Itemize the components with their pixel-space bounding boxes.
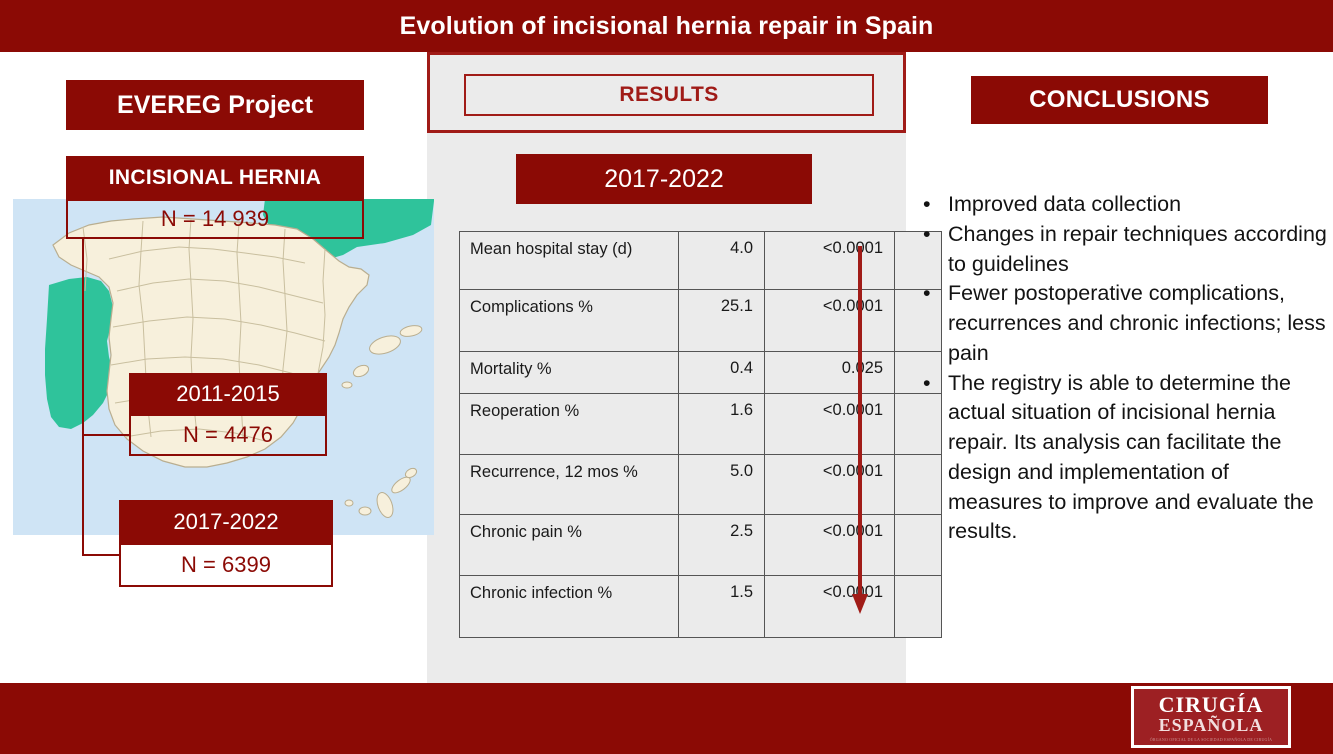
results-table-body: Mean hospital stay (d) 4.0 <0.0001 Compl… bbox=[460, 232, 942, 638]
list-item-text: Improved data collection bbox=[948, 192, 1181, 216]
period-2017-2022-banner: 2017-2022 bbox=[119, 500, 333, 544]
table-row: Reoperation % 1.6 <0.0001 bbox=[460, 394, 942, 455]
list-item: • Improved data collection bbox=[911, 190, 1329, 220]
table-cell-value: 25.1 bbox=[679, 290, 765, 352]
incisional-hernia-n-value: N = 14 939 bbox=[161, 206, 269, 232]
table-cell-pvalue: <0.0001 bbox=[765, 394, 895, 455]
bullet-icon: • bbox=[923, 369, 931, 399]
logo-title-line1: CIRUGÍA bbox=[1159, 694, 1264, 716]
table-cell-value: 4.0 bbox=[679, 232, 765, 290]
list-item: • The registry is able to determine the … bbox=[911, 369, 1329, 548]
poster-title-bar: Evolution of incisional hernia repair in… bbox=[0, 0, 1333, 52]
table-cell-label: Chronic pain % bbox=[460, 515, 679, 576]
table-cell-pvalue: <0.0001 bbox=[765, 576, 895, 638]
connector-line-to-period2 bbox=[82, 554, 120, 556]
period-2011-2015-n-box: N = 4476 bbox=[129, 414, 327, 456]
table-row: Recurrence, 12 mos % 5.0 <0.0001 bbox=[460, 455, 942, 515]
table-cell-label: Recurrence, 12 mos % bbox=[460, 455, 679, 515]
table-cell-label: Mortality % bbox=[460, 352, 679, 394]
table-row: Mortality % 0.4 0.025 bbox=[460, 352, 942, 394]
results-table: Mean hospital stay (d) 4.0 <0.0001 Compl… bbox=[459, 231, 942, 638]
incisional-hernia-label: INCISIONAL HERNIA bbox=[109, 166, 321, 190]
logo-subtitle: ÓRGANO OFICIAL DE LA SOCIEDAD ESPAÑOLA D… bbox=[1150, 738, 1273, 743]
results-period-banner: 2017-2022 bbox=[516, 154, 812, 204]
incisional-hernia-banner: INCISIONAL HERNIA bbox=[66, 156, 364, 200]
table-cell-label: Mean hospital stay (d) bbox=[460, 232, 679, 290]
bullet-icon: • bbox=[923, 220, 931, 250]
conclusions-title: CONCLUSIONS bbox=[1029, 86, 1210, 114]
list-item: • Changes in repair techniques according… bbox=[911, 220, 1329, 280]
map-of-spain bbox=[13, 199, 434, 535]
table-cell-value: 0.4 bbox=[679, 352, 765, 394]
table-row: Complications % 25.1 <0.0001 bbox=[460, 290, 942, 352]
table-cell-pvalue: <0.0001 bbox=[765, 232, 895, 290]
connector-line-to-period1 bbox=[82, 434, 130, 436]
list-item-text: Fewer postoperative complications, recur… bbox=[948, 281, 1326, 365]
bullet-icon: • bbox=[923, 190, 931, 220]
results-period-label: 2017-2022 bbox=[604, 165, 724, 194]
table-cell-value: 1.5 bbox=[679, 576, 765, 638]
table-cell-pvalue: <0.0001 bbox=[765, 515, 895, 576]
period-2011-2015-n-value: N = 4476 bbox=[183, 422, 273, 448]
evereg-project-banner: EVEREG Project bbox=[66, 80, 364, 130]
table-cell-value: 2.5 bbox=[679, 515, 765, 576]
table-cell-value: 5.0 bbox=[679, 455, 765, 515]
spain-map-svg bbox=[13, 199, 434, 535]
incisional-hernia-n-box: N = 14 939 bbox=[66, 199, 364, 239]
table-cell-arrow bbox=[895, 576, 942, 638]
list-item-text: The registry is able to determine the ac… bbox=[948, 371, 1314, 544]
table-cell-label: Reoperation % bbox=[460, 394, 679, 455]
table-row: Chronic infection % 1.5 <0.0001 bbox=[460, 576, 942, 638]
period-2011-2015-label: 2011-2015 bbox=[176, 381, 280, 407]
cirugia-espanola-logo: CIRUGÍA ESPAÑOLA ÓRGANO OFICIAL DE LA SO… bbox=[1131, 686, 1291, 748]
period-2017-2022-n-box: N = 6399 bbox=[119, 543, 333, 587]
table-cell-pvalue: <0.0001 bbox=[765, 290, 895, 352]
table-cell-value: 1.6 bbox=[679, 394, 765, 455]
period-2011-2015-banner: 2011-2015 bbox=[129, 373, 327, 415]
connector-line-vertical-main bbox=[82, 238, 84, 556]
evereg-project-label: EVEREG Project bbox=[117, 91, 313, 120]
table-cell-label: Complications % bbox=[460, 290, 679, 352]
period-2017-2022-label: 2017-2022 bbox=[173, 509, 278, 535]
conclusions-list: • Improved data collection • Changes in … bbox=[911, 190, 1329, 547]
table-cell-label: Chronic infection % bbox=[460, 576, 679, 638]
conclusions-banner: CONCLUSIONS bbox=[971, 76, 1268, 124]
results-title-box: RESULTS bbox=[464, 74, 874, 116]
list-item: • Fewer postoperative complications, rec… bbox=[911, 279, 1329, 368]
table-row: Mean hospital stay (d) 4.0 <0.0001 bbox=[460, 232, 942, 290]
table-cell-pvalue: <0.0001 bbox=[765, 455, 895, 515]
table-row: Chronic pain % 2.5 <0.0001 bbox=[460, 515, 942, 576]
table-cell-pvalue: 0.025 bbox=[765, 352, 895, 394]
list-item-text: Changes in repair techniques according t… bbox=[948, 222, 1327, 276]
results-title-label: RESULTS bbox=[619, 83, 718, 107]
page-title: Evolution of incisional hernia repair in… bbox=[400, 12, 934, 41]
bullet-icon: • bbox=[923, 279, 931, 309]
logo-title-line2: ESPAÑOLA bbox=[1159, 716, 1264, 736]
period-2017-2022-n-value: N = 6399 bbox=[181, 552, 271, 578]
